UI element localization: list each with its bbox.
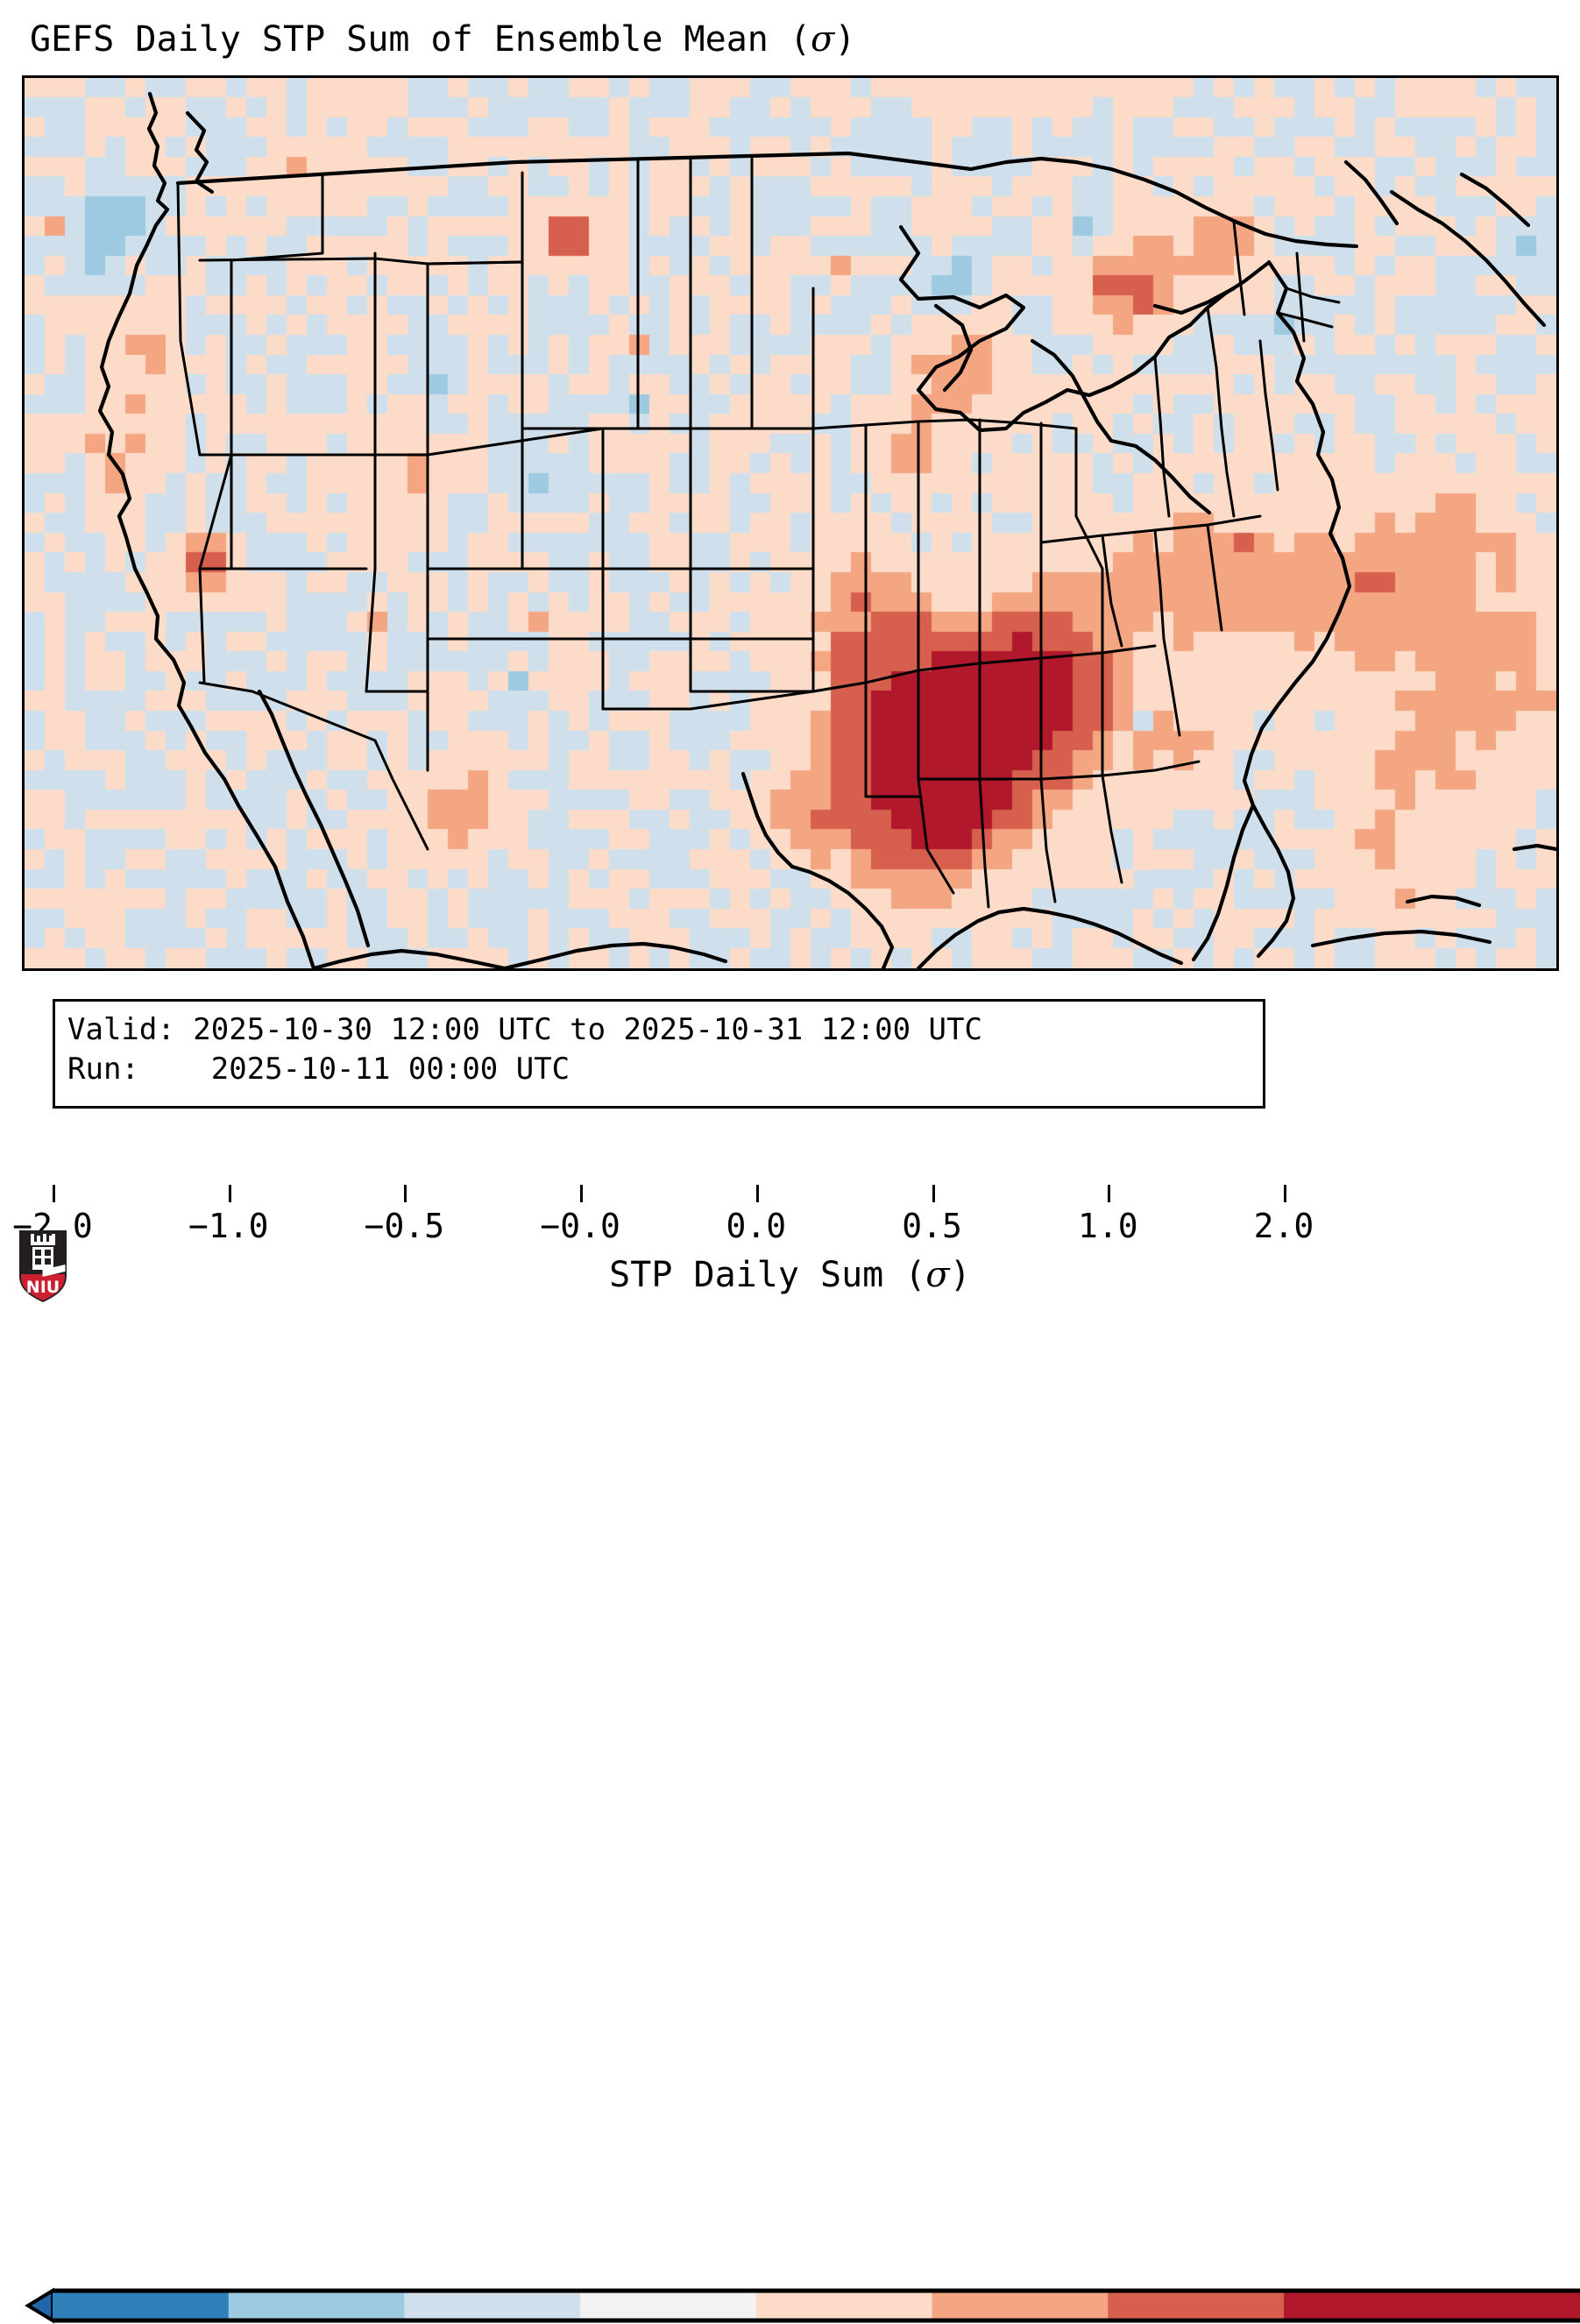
geo-path	[505, 944, 726, 968]
geo-path	[918, 779, 953, 893]
colorbar-tick-label: 2.0	[1254, 1207, 1314, 1245]
geo-path	[936, 306, 971, 390]
geo-path	[1102, 535, 1122, 646]
geo-path	[231, 455, 375, 691]
geo-path	[1076, 429, 1102, 653]
run-line: Run: 2025-10-11 00:00 UTC	[67, 1050, 1251, 1089]
geo-path	[178, 183, 200, 455]
geo-path	[1346, 162, 1397, 223]
geo-path	[1234, 222, 1244, 315]
colorbar[interactable]	[0, 2287, 1580, 2324]
geo-path	[428, 262, 603, 709]
colorbar-tick	[756, 1185, 759, 1202]
page-title: GEFS Daily STP Sum of Ensemble Mean (σ)	[30, 19, 855, 60]
geo-path	[1102, 653, 1122, 882]
geo-path	[428, 429, 522, 569]
geo-path	[1155, 530, 1180, 735]
geo-path	[1313, 932, 1490, 946]
colorbar-band	[53, 2291, 229, 2320]
geo-path	[1407, 896, 1479, 905]
geo-path	[918, 909, 1181, 968]
geo-path	[980, 779, 988, 907]
colorbar-label-suffix: )	[950, 1255, 971, 1295]
colorbar-tick	[580, 1185, 583, 1202]
geo-path	[259, 691, 368, 946]
geo-path	[691, 429, 813, 569]
niu-logo-text: NIU	[26, 1278, 60, 1297]
colorbar-tick	[229, 1185, 231, 1202]
geo-path	[1462, 174, 1528, 225]
geo-path	[1102, 762, 1199, 776]
map-panel[interactable]	[22, 75, 1559, 971]
colorbar-tick-label: 1.0	[1078, 1207, 1138, 1245]
colorbar-tick	[404, 1185, 407, 1202]
colorbar-band	[1108, 2291, 1284, 2320]
geo-path	[813, 420, 1076, 429]
valid-line: Valid: 2025-10-30 12:00 UTC to 2025-10-3…	[67, 1010, 1251, 1050]
colorbar-band	[756, 2291, 932, 2320]
geo-path	[200, 259, 428, 264]
colorbar-tick	[1284, 1185, 1286, 1202]
colorbar-band	[404, 2291, 580, 2320]
geography-layer	[25, 78, 1556, 968]
niu-logo: NIU	[16, 1227, 70, 1304]
geo-path	[603, 683, 866, 709]
colorbar-tick-labels: −2.0−1.0−0.5−0.00.00.51.02.0	[0, 1187, 1580, 1231]
colorbar-under-arrow	[28, 2291, 53, 2320]
geo-path	[918, 670, 1102, 779]
colorbar-axis-label: STP Daily Sum (σ)	[0, 1255, 1580, 1295]
geo-path	[231, 174, 322, 455]
colorbar-tick	[1108, 1185, 1110, 1202]
geo-path	[178, 153, 971, 183]
geo-path	[1260, 341, 1278, 490]
geo-path	[100, 94, 314, 968]
valid-run-infobox: Valid: 2025-10-30 12:00 UTC to 2025-10-3…	[53, 999, 1265, 1109]
colorbar-tick-label: −0.0	[540, 1207, 620, 1245]
colorbar-band	[932, 2291, 1109, 2320]
colorbar-over-ext	[1284, 2291, 1580, 2320]
geo-path	[1155, 288, 1234, 313]
geo-path	[971, 159, 1357, 246]
geo-path	[603, 429, 691, 569]
colorbar-tick	[932, 1185, 935, 1202]
geo-path	[200, 683, 375, 740]
geo-path	[1208, 308, 1234, 516]
geo-path	[1155, 357, 1169, 516]
geo-path	[1244, 262, 1350, 956]
colorbar-label-text: STP Daily Sum (	[609, 1255, 925, 1295]
colorbar-tick-label: −1.0	[188, 1207, 269, 1245]
geo-path	[1194, 805, 1253, 960]
sigma-symbol: σ	[811, 19, 834, 60]
colorbar-tick-label: 0.0	[726, 1207, 787, 1245]
colorbar-tick-label: 0.5	[902, 1207, 962, 1245]
colorbar-region	[0, 1139, 1580, 1192]
geo-path	[231, 429, 603, 455]
geo-path	[691, 569, 813, 691]
geo-path	[375, 740, 428, 849]
geo-path	[603, 159, 691, 429]
geo-path	[1041, 779, 1055, 902]
geo-path	[792, 867, 892, 968]
geo-path	[1208, 525, 1222, 630]
geo-path	[1297, 253, 1304, 341]
sigma-symbol-axis: σ	[925, 1255, 949, 1295]
geo-path	[1392, 192, 1544, 325]
colorbar-tick	[53, 1185, 55, 1202]
geo-path	[1514, 846, 1556, 849]
colorbar-band	[229, 2291, 405, 2320]
geo-path	[366, 691, 428, 770]
title-text: GEFS Daily STP Sum of Ensemble Mean (	[30, 19, 811, 60]
geo-path	[1286, 288, 1339, 302]
colorbar-band	[580, 2291, 756, 2320]
geo-path	[743, 774, 792, 867]
map-canvas	[25, 78, 1556, 968]
title-suffix: )	[834, 19, 855, 60]
geo-path	[314, 951, 505, 968]
geo-path	[866, 683, 918, 797]
colorbar-tick-label: −0.5	[365, 1207, 445, 1245]
